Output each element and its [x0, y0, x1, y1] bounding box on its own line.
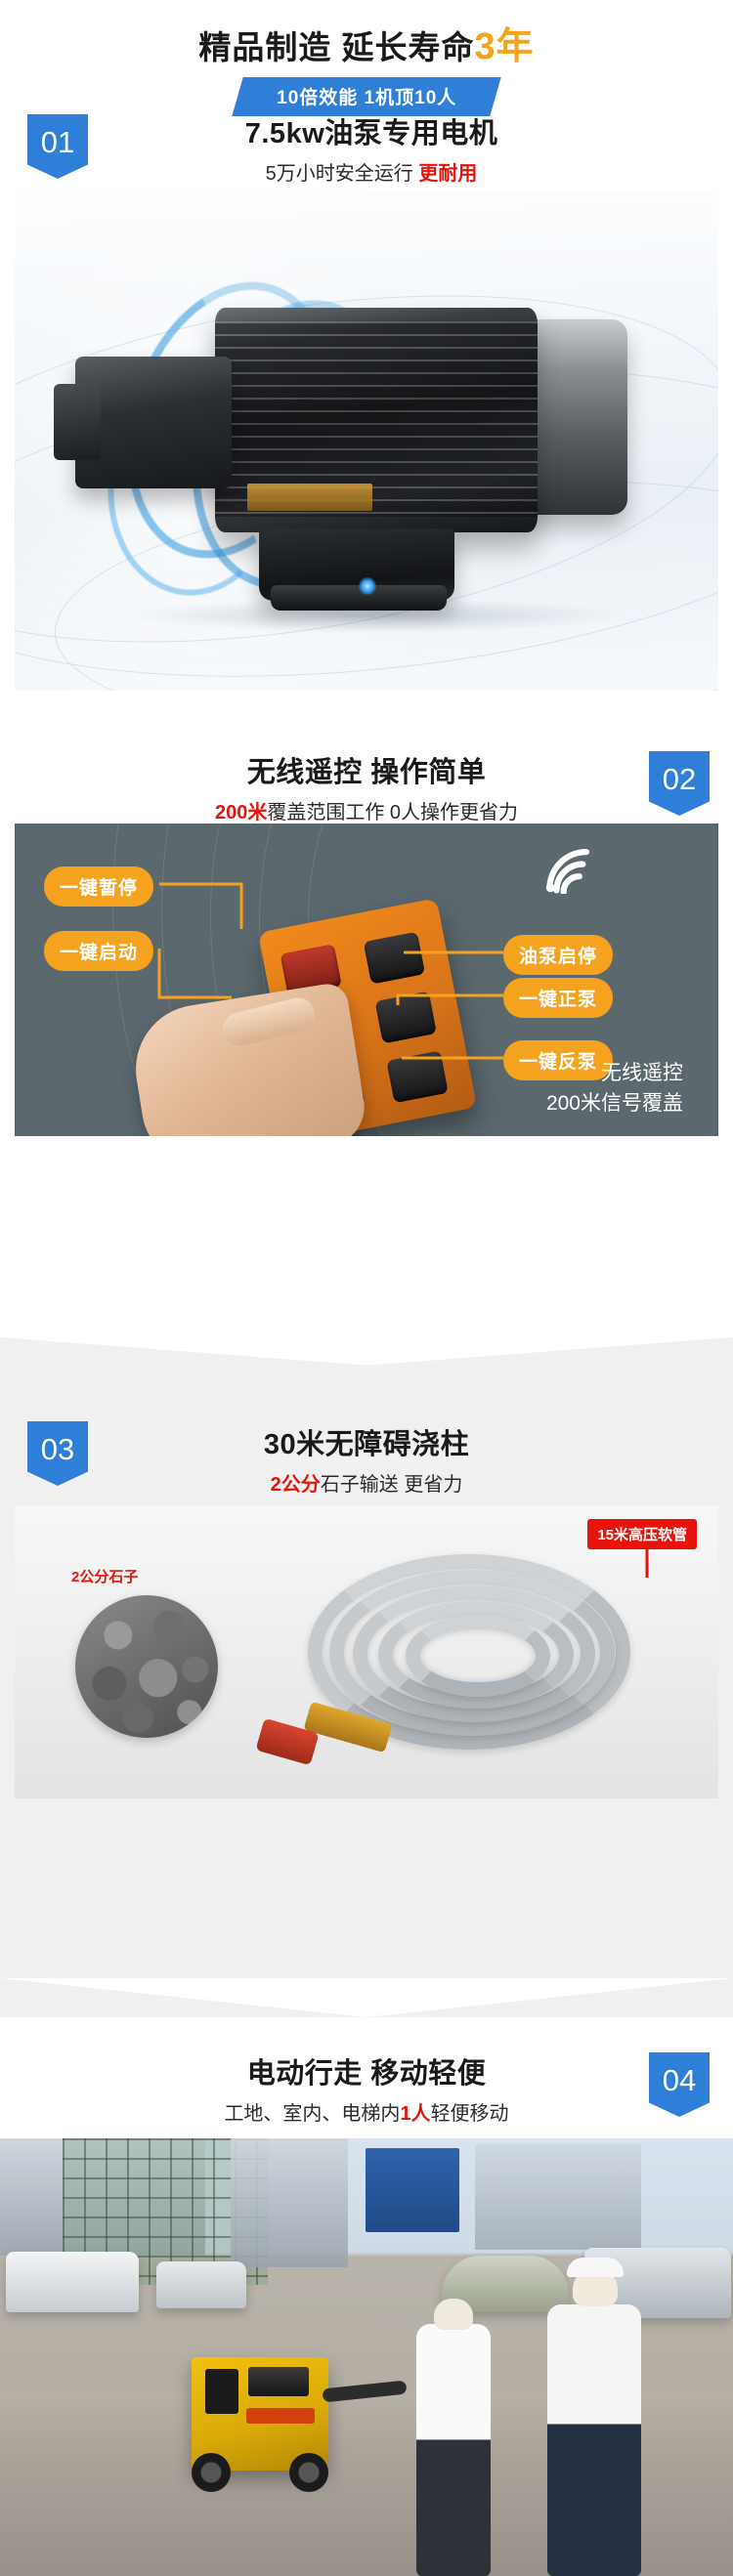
worker-center-head — [434, 2299, 473, 2330]
section-03-titles: 30米无障碍浇柱 2公分石子输送 更省力 — [0, 1421, 733, 1497]
section-03-sub-plain: 石子输送 更省力 — [321, 1474, 463, 1496]
section-02-sub-plain: 覆盖范围工作 0人操作更省力 — [267, 802, 518, 823]
remote-caption-line-1: 无线遥控 — [546, 1059, 683, 1088]
page-title-accent: 3年 — [475, 26, 535, 67]
worker-center — [416, 2324, 491, 2576]
callout-pump-toggle: 油泵启停 — [503, 935, 613, 975]
hose-length-tag: 15米高压软管 — [587, 1519, 697, 1549]
page-title-main: 精品制造 延长寿命 — [198, 29, 474, 65]
section-04-badge-number: 04 — [663, 2063, 696, 2098]
motor-nameplate — [247, 484, 372, 511]
worker-right — [547, 2304, 641, 2576]
section-02-titles: 无线遥控 操作简单 200米覆盖范围工作 0人操作更省力 — [0, 749, 733, 824]
section-04-sub-plain-post: 轻便移动 — [431, 2103, 509, 2125]
section-02-subtitle: 200米覆盖范围工作 0人操作更省力 — [0, 796, 733, 824]
section-04-titles: 电动行走 移动轻便 工地、室内、电梯内1人轻便移动 — [0, 2050, 733, 2126]
machine-wheel-right — [289, 2453, 328, 2492]
callout-start: 一键启动 — [44, 931, 153, 971]
section-02-title: 无线遥控 操作简单 — [0, 749, 733, 790]
machine-wheel-left — [192, 2453, 231, 2492]
gravel-closeup — [75, 1595, 218, 1738]
section-01-sub-plain: 5万小时安全运行 — [266, 163, 419, 185]
machine-red-stripe — [246, 2408, 315, 2424]
page-title: 精品制造 延长寿命3年 — [0, 0, 733, 69]
remote-control-photo: 一键暂停 一键启动 油泵启停 一键正泵 一键反泵 无线遥控 200米信号覆盖 — [15, 823, 718, 1136]
section-02: 02 无线遥控 操作简单 200米覆盖范围工作 0人操作更省力 — [0, 708, 733, 1382]
site-signboard — [366, 2148, 459, 2232]
section-04-header: 04 电动行走 移动轻便 工地、室内、电梯内1人轻便移动 — [0, 2017, 733, 2127]
site-building-right — [475, 2144, 641, 2250]
section-03-subtitle: 2公分石子输送 更省力 — [0, 1468, 733, 1497]
section-01-sub-highlight: 更耐用 — [418, 163, 477, 185]
page-header: 精品制造 延长寿命3年 10倍效能 1机顶10人 — [0, 0, 733, 93]
remote-caption: 无线遥控 200米信号覆盖 — [546, 1059, 683, 1119]
section-02-sub-highlight: 200米 — [215, 802, 267, 823]
callout-pause: 一键暂停 — [44, 866, 153, 907]
motor-photo — [15, 190, 718, 691]
section-04: 04 电动行走 移动轻便 工地、室内、电梯内1人轻便移动 — [0, 2017, 733, 2576]
section-03: 03 30米无障碍浇柱 2公分石子输送 更省力 2公分石子 15米高压软管 — [0, 1382, 733, 2017]
section-04-title: 电动行走 移动轻便 — [0, 2050, 733, 2091]
section-01-title: 7.5kw油泵专用电机 — [10, 110, 733, 151]
section-01-subtitle: 5万小时安全运行 更耐用 — [10, 157, 733, 186]
section-04-sub-highlight: 1人 — [400, 2103, 430, 2125]
section-03-sub-highlight: 2公分 — [271, 1474, 321, 1496]
hose-gravel-photo: 2公分石子 15米高压软管 — [15, 1505, 718, 1798]
hose-ring-5 — [406, 1615, 550, 1697]
section-02-badge-number: 02 — [663, 762, 696, 797]
site-photo — [0, 2138, 733, 2576]
site-van-white — [6, 2252, 139, 2312]
section-03-header: 03 30米无障碍浇柱 2公分石子输送 更省力 — [0, 1382, 733, 1492]
site-car-silver — [156, 2261, 246, 2308]
section-01-header: 01 7.5kw油泵专用电机 5万小时安全运行 更耐用 — [0, 93, 733, 190]
worker-right-helmet — [567, 2258, 624, 2277]
wedge-divider-bottom-02 — [0, 1337, 733, 1382]
machine-control-panel — [205, 2369, 238, 2414]
site-building-mid — [231, 2138, 348, 2267]
section-03-title: 30米无障碍浇柱 — [0, 1421, 733, 1462]
section-04-sub-plain-pre: 工地、室内、电梯内 — [224, 2103, 400, 2125]
gravel-label: 2公分石子 — [71, 1566, 138, 1586]
wedge-divider-bottom-03 — [0, 1978, 733, 2017]
remote-caption-line-2: 200米信号覆盖 — [546, 1089, 683, 1119]
callout-forward-pump: 一键正泵 — [503, 978, 613, 1018]
motor-indicator-led — [359, 577, 376, 595]
section-01-titles: 7.5kw油泵专用电机 5万小时安全运行 更耐用 — [0, 110, 733, 186]
section-03-badge-number: 03 — [41, 1432, 74, 1467]
section-01-badge-number: 01 — [41, 125, 74, 160]
section-01: 01 7.5kw油泵专用电机 5万小时安全运行 更耐用 — [0, 93, 733, 708]
machine-motor-unit — [248, 2367, 309, 2396]
motor-shaft-housing — [54, 384, 101, 460]
section-02-header: 02 无线遥控 操作简单 200米覆盖范围工作 0人操作更省力 — [0, 708, 733, 818]
section-04-subtitle: 工地、室内、电梯内1人轻便移动 — [0, 2097, 733, 2126]
